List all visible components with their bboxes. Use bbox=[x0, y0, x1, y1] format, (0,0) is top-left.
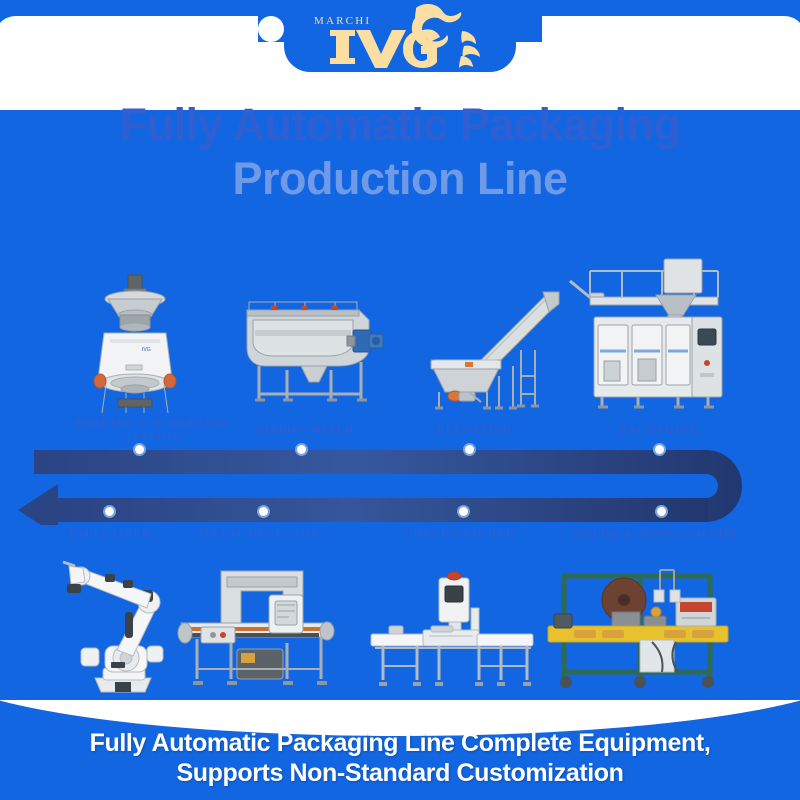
flow-marker-1 bbox=[133, 443, 146, 456]
flow-marker-3 bbox=[463, 443, 476, 456]
tab-notch-right bbox=[516, 16, 542, 42]
metal-detector-conveyor bbox=[175, 565, 340, 695]
poster-root: MARCHI Fully Automatic Packaging Product… bbox=[0, 0, 800, 800]
flow-marker-8 bbox=[655, 505, 668, 518]
logo-wordmark: MARCHI bbox=[314, 15, 371, 27]
stage-label-packaging: PACKAGING bbox=[595, 424, 725, 437]
stage-label-metal-detector: METAL DETECTOR bbox=[185, 527, 335, 540]
flow-marker-7 bbox=[457, 505, 470, 518]
svg-text:IVG: IVG bbox=[142, 347, 151, 353]
page-title: Fully Automatic Packaging Production Lin… bbox=[0, 98, 800, 206]
stage-label-sealing-sewing: SEALING & SEWING MACHINE bbox=[560, 528, 750, 541]
footer-line-2: Supports Non-Standard Customization bbox=[0, 758, 800, 788]
screening-station-machine: IVG bbox=[80, 265, 190, 415]
sealing-sewing-machine bbox=[540, 560, 735, 695]
stage-label-ribbon-mixer: RIBBON MIXER bbox=[225, 424, 385, 437]
ribbon-mixer-machine bbox=[235, 290, 390, 415]
footer-banner: Fully Automatic Packaging Line Complete … bbox=[0, 700, 800, 800]
flow-marker-4 bbox=[653, 443, 666, 456]
machine-row-bottom bbox=[20, 545, 780, 695]
screw-elevator-machine bbox=[425, 280, 565, 415]
flow-marker-6 bbox=[257, 505, 270, 518]
footer-line-1: Fully Automatic Packaging Line Complete … bbox=[0, 728, 800, 758]
title-line-2: Production Line bbox=[0, 152, 800, 206]
stage-label-palletizer: PALLETIZER bbox=[40, 527, 180, 540]
footer-tagline: Fully Automatic Packaging Line Complete … bbox=[0, 728, 800, 788]
marchi-ivg-dragon-logo: MARCHI bbox=[284, 2, 516, 68]
machine-row-top: IVG bbox=[20, 250, 780, 415]
checkweigher-conveyor bbox=[365, 560, 540, 695]
flow-marker-2 bbox=[295, 443, 308, 456]
flow-marker-5 bbox=[103, 505, 116, 518]
stage-label-checkweigher: CHECKWEIGHER bbox=[390, 527, 530, 540]
stage-label-elevating: ELEVATING bbox=[415, 424, 535, 437]
vffs-packaging-machine bbox=[568, 255, 733, 415]
palletizing-robot-arm bbox=[55, 550, 190, 695]
process-flow-band bbox=[0, 440, 800, 525]
tab-notch-left bbox=[258, 16, 284, 42]
title-line-1: Fully Automatic Packaging bbox=[0, 98, 800, 152]
